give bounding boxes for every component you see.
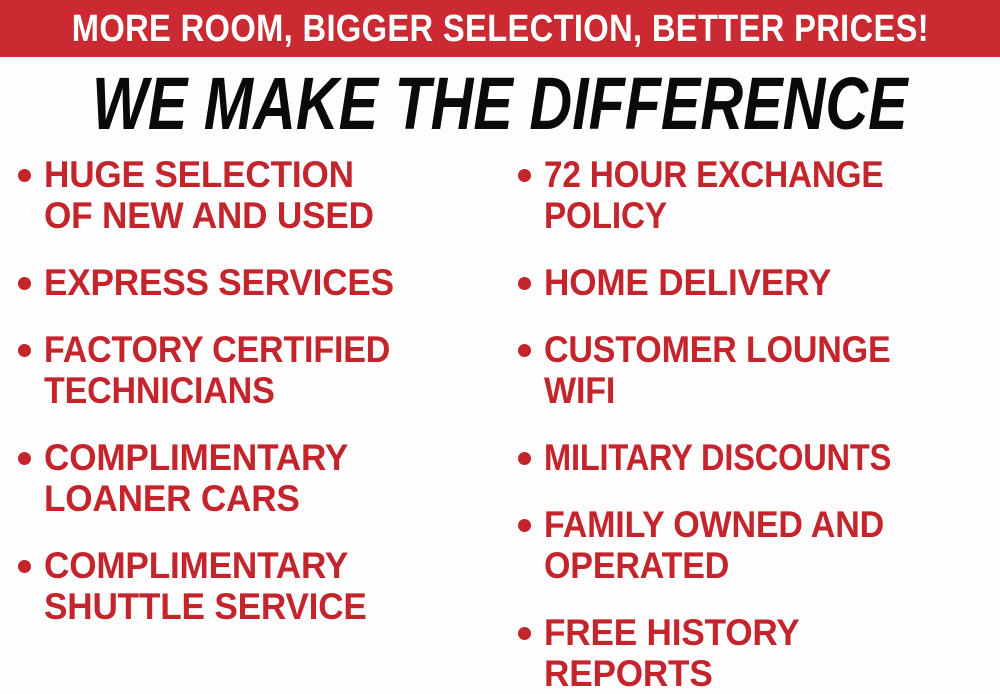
benefits-columns: HUGE SELECTION OF NEW AND USED EXPRESS S… bbox=[0, 154, 1000, 694]
benefit-text: COMPLIMENTARY LOANER CARS bbox=[44, 437, 348, 519]
bullet-dot-icon bbox=[518, 344, 531, 357]
list-item: 72 HOUR EXCHANGE POLICY bbox=[518, 154, 1000, 236]
benefit-text: COMPLIMENTARY SHUTTLE SERVICE bbox=[44, 545, 367, 627]
benefit-text: EXPRESS SERVICES bbox=[44, 262, 394, 303]
bullet-dot-icon bbox=[18, 560, 31, 573]
benefit-text: FREE HISTORY REPORTS bbox=[544, 612, 800, 694]
advertisement-graphic: MORE ROOM, BIGGER SELECTION, BETTER PRIC… bbox=[0, 0, 1000, 694]
benefits-column-left: HUGE SELECTION OF NEW AND USED EXPRESS S… bbox=[0, 154, 500, 694]
bullet-dot-icon bbox=[18, 452, 31, 465]
benefit-text: 72 HOUR EXCHANGE POLICY bbox=[544, 154, 883, 236]
list-item: MILITARY DISCOUNTS bbox=[518, 437, 1000, 478]
list-item: CUSTOMER LOUNGE WIFI bbox=[518, 329, 1000, 411]
bullet-dot-icon bbox=[18, 277, 31, 290]
list-item: COMPLIMENTARY SHUTTLE SERVICE bbox=[18, 545, 500, 627]
bullet-dot-icon bbox=[518, 277, 531, 290]
top-banner: MORE ROOM, BIGGER SELECTION, BETTER PRIC… bbox=[0, 0, 1000, 57]
benefit-text: CUSTOMER LOUNGE WIFI bbox=[544, 329, 890, 411]
list-item: FREE HISTORY REPORTS bbox=[518, 612, 1000, 694]
list-item: EXPRESS SERVICES bbox=[18, 262, 500, 303]
benefit-text: HOME DELIVERY bbox=[544, 262, 831, 303]
list-item: FACTORY CERTIFIED TECHNICIANS bbox=[18, 329, 500, 411]
list-item: HOME DELIVERY bbox=[518, 262, 1000, 303]
bullet-dot-icon bbox=[518, 519, 531, 532]
bullet-dot-icon bbox=[518, 452, 531, 465]
main-headline: WE MAKE THE DIFFERENCE bbox=[92, 67, 908, 141]
list-item: COMPLIMENTARY LOANER CARS bbox=[18, 437, 500, 519]
list-item: HUGE SELECTION OF NEW AND USED bbox=[18, 154, 500, 236]
bullet-dot-icon bbox=[518, 169, 531, 182]
bullet-dot-icon bbox=[18, 344, 31, 357]
benefit-text: MILITARY DISCOUNTS bbox=[544, 437, 891, 478]
benefit-text: HUGE SELECTION OF NEW AND USED bbox=[44, 154, 374, 236]
banner-headline-text: MORE ROOM, BIGGER SELECTION, BETTER PRIC… bbox=[71, 10, 928, 48]
bullet-dot-icon bbox=[18, 169, 31, 182]
benefits-column-right: 72 HOUR EXCHANGE POLICY HOME DELIVERY CU… bbox=[500, 154, 1000, 694]
benefit-text: FACTORY CERTIFIED TECHNICIANS bbox=[44, 329, 390, 411]
bullet-dot-icon bbox=[518, 627, 531, 640]
headline-container: WE MAKE THE DIFFERENCE bbox=[0, 66, 1000, 142]
benefit-text: FAMILY OWNED AND OPERATED bbox=[544, 504, 884, 586]
list-item: FAMILY OWNED AND OPERATED bbox=[518, 504, 1000, 586]
